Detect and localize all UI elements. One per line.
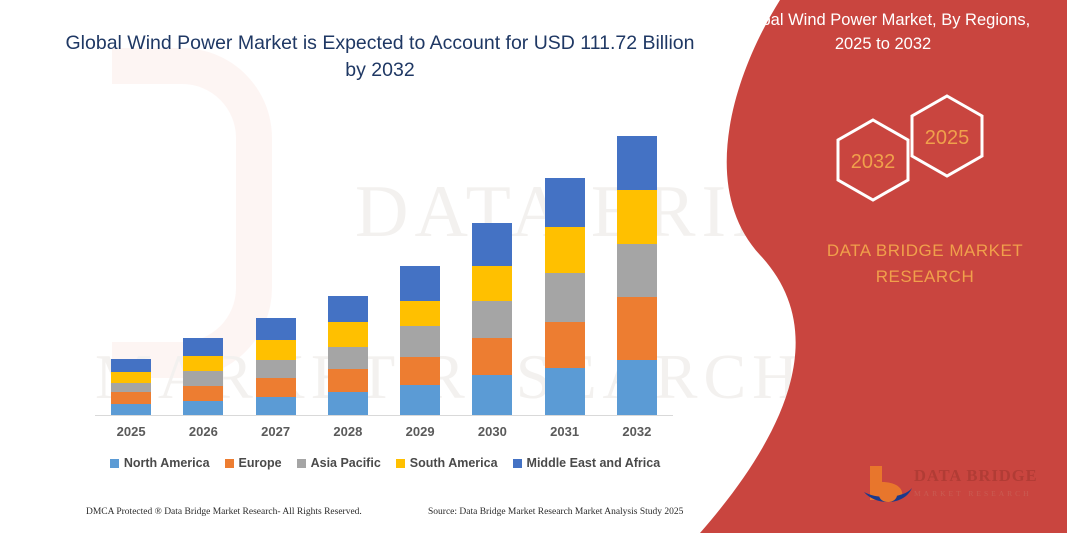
bar-segment <box>111 383 151 392</box>
bar-segment <box>545 322 585 368</box>
hexagon-badges: 2025 2032 <box>815 90 1015 205</box>
legend-label: Asia Pacific <box>311 456 381 470</box>
dbmr-logo: DATA BRIDGE MARKET RESEARCH <box>860 462 1050 510</box>
legend-swatch-icon <box>396 459 405 468</box>
stacked-bar <box>111 359 151 415</box>
bar-segment <box>328 347 368 369</box>
bar-segment <box>256 318 296 340</box>
brand-line-2: RESEARCH <box>790 264 1060 290</box>
bar-segment <box>111 359 151 372</box>
hexagon-2025-label: 2025 <box>925 127 970 149</box>
x-axis-label: 2025 <box>96 424 166 439</box>
logo-text-line-1: DATA BRIDGE <box>914 466 1054 486</box>
bar-segment <box>328 392 368 415</box>
legend-label: South America <box>410 456 498 470</box>
bar-column <box>313 120 383 415</box>
logo-mark-icon <box>860 462 916 508</box>
bar-column <box>385 120 455 415</box>
x-axis-line <box>95 415 673 416</box>
logo-text: DATA BRIDGE MARKET RESEARCH <box>914 466 1054 498</box>
bar-column <box>457 120 527 415</box>
stacked-bar-chart <box>95 120 673 415</box>
bar-segment <box>256 340 296 360</box>
bar-segment <box>328 296 368 321</box>
x-axis-labels: 20252026202720282029203020312032 <box>95 424 673 439</box>
stacked-bar <box>400 266 440 415</box>
legend-swatch-icon <box>513 459 522 468</box>
bar-segment <box>545 178 585 227</box>
infographic-page: DATA BRIDGE MARKET RESEARCH Global Wind … <box>0 0 1067 533</box>
bar-segment <box>183 401 223 415</box>
bar-segment <box>256 397 296 415</box>
legend-item[interactable]: Middle East and Africa <box>513 456 661 470</box>
bar-segment <box>400 266 440 301</box>
bar-segment <box>111 404 151 415</box>
brand-name: DATA BRIDGE MARKET RESEARCH <box>790 238 1060 290</box>
stacked-bar <box>472 223 512 415</box>
bar-segment <box>472 375 512 415</box>
legend-item[interactable]: Europe <box>225 456 282 470</box>
bar-segment <box>472 338 512 376</box>
stacked-bar <box>183 338 223 415</box>
stacked-bar <box>545 178 585 415</box>
legend-item[interactable]: North America <box>110 456 210 470</box>
stacked-bar <box>328 296 368 415</box>
bar-segment <box>545 227 585 272</box>
bar-segment <box>545 273 585 322</box>
x-axis-label: 2028 <box>313 424 383 439</box>
logo-text-line-2: MARKET RESEARCH <box>914 489 1054 498</box>
legend-label: Europe <box>239 456 282 470</box>
bar-segment <box>400 301 440 326</box>
bar-segment <box>183 338 223 356</box>
x-axis-label: 2031 <box>530 424 600 439</box>
bar-segment <box>472 301 512 337</box>
legend-item[interactable]: Asia Pacific <box>297 456 381 470</box>
bar-segment <box>472 223 512 266</box>
bar-segment <box>111 372 151 383</box>
bar-segment <box>256 378 296 397</box>
legend-item[interactable]: South America <box>396 456 498 470</box>
x-axis-label: 2030 <box>457 424 527 439</box>
footer-copyright: DMCA Protected ® Data Bridge Market Rese… <box>86 507 362 517</box>
legend-swatch-icon <box>110 459 119 468</box>
bar-segment <box>400 385 440 415</box>
bar-segment <box>183 371 223 386</box>
bar-column <box>530 120 600 415</box>
bar-segment <box>111 392 151 403</box>
legend-swatch-icon <box>225 459 234 468</box>
x-axis-label: 2026 <box>168 424 238 439</box>
chart-legend: North AmericaEuropeAsia PacificSouth Ame… <box>95 456 675 470</box>
bar-segment <box>545 368 585 415</box>
bar-segment <box>328 322 368 347</box>
stacked-bar <box>256 318 296 415</box>
bar-segment <box>256 360 296 378</box>
bar-column <box>96 120 166 415</box>
panel-title: Global Wind Power Market, By Regions, 20… <box>718 8 1048 56</box>
x-axis-label: 2027 <box>241 424 311 439</box>
bar-segment <box>328 369 368 392</box>
hexagon-2032-label: 2032 <box>851 151 896 173</box>
bar-segment <box>183 386 223 401</box>
legend-swatch-icon <box>297 459 306 468</box>
legend-label: North America <box>124 456 210 470</box>
bar-column <box>241 120 311 415</box>
bar-column <box>168 120 238 415</box>
brand-line-1: DATA BRIDGE MARKET <box>790 238 1060 264</box>
chart-title: Global Wind Power Market is Expected to … <box>60 30 700 84</box>
bar-segment <box>400 326 440 358</box>
bar-segment <box>400 357 440 384</box>
bar-segment <box>183 356 223 372</box>
bar-segment <box>472 266 512 301</box>
x-axis-label: 2029 <box>385 424 455 439</box>
